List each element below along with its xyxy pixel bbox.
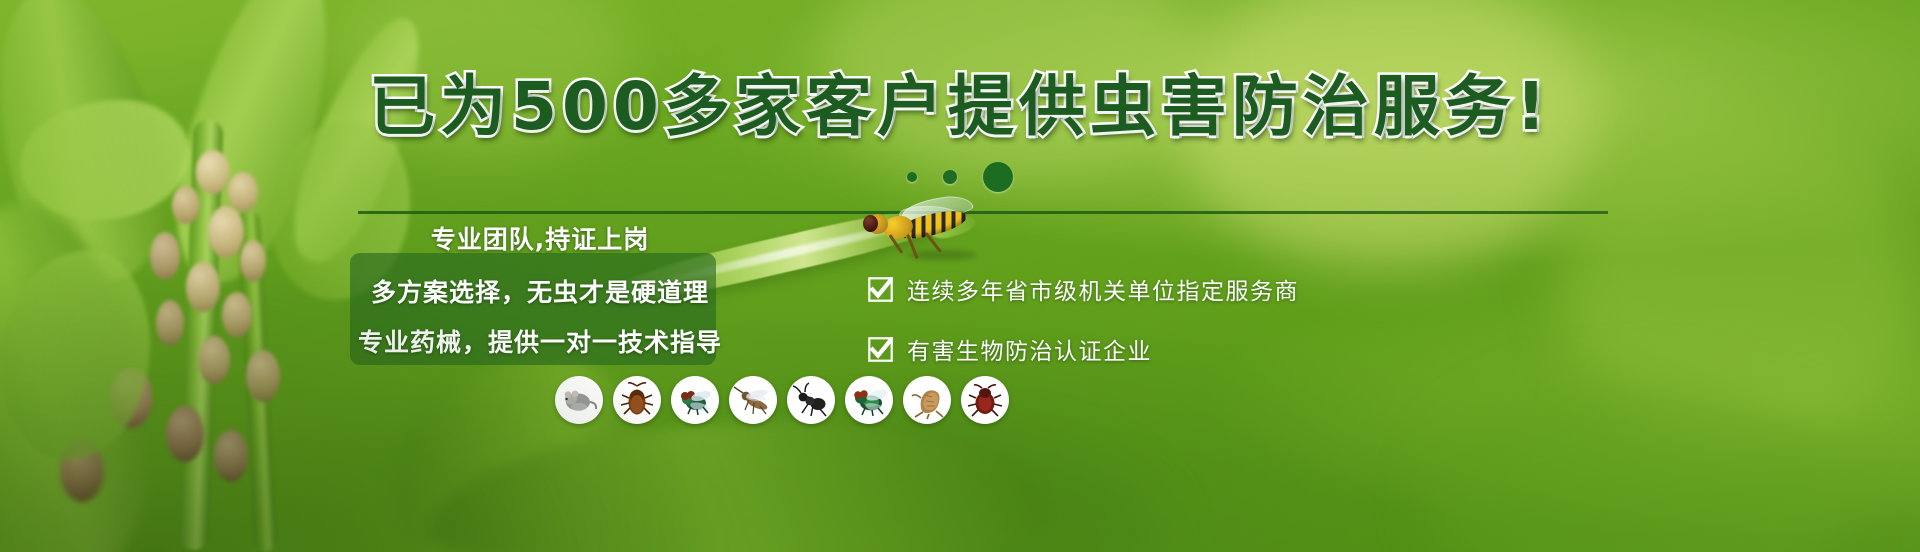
feature-line-3: 专业药械，提供一对一技术指导 <box>330 318 750 368</box>
hoverfly-eye <box>863 215 878 232</box>
flower-bud <box>214 430 248 482</box>
headline-area: 已为500多家客户提供虫害防治服务! 已为500多家客户提供虫害防治服务! <box>0 0 1920 160</box>
flower-bud <box>222 292 252 338</box>
flower-bud <box>240 240 266 282</box>
pest-control-banner: 已为500多家客户提供虫害防治服务! 已为500多家客户提供虫害防治服务! 专业… <box>0 0 1920 552</box>
rat-icon[interactable] <box>555 376 603 424</box>
flower-bud <box>246 350 280 402</box>
list-item: 有害生物防治认证企业 <box>868 332 1299 366</box>
flower-bud <box>156 300 184 346</box>
flower-bud <box>198 336 230 384</box>
dot-small-icon <box>907 172 917 182</box>
greenfly-icon[interactable] <box>845 376 893 424</box>
fly-icon[interactable] <box>671 376 719 424</box>
list-item-label: 连续多年省市级机关单位指定服务商 <box>907 272 1299 306</box>
page-title: 已为500多家客户提供虫害防治服务! <box>0 74 1920 140</box>
list-item-label: 有害生物防治认证企业 <box>907 332 1152 366</box>
flea-icon[interactable] <box>903 376 951 424</box>
bedbug-icon[interactable] <box>961 376 1009 424</box>
flower-bud <box>208 206 244 258</box>
dot-large-icon <box>983 162 1013 192</box>
cockroach-icon[interactable] <box>613 376 661 424</box>
flower-bud <box>166 406 204 462</box>
dot-medium-icon <box>943 170 957 184</box>
pest-icon-row <box>555 376 1009 424</box>
flower-bud <box>150 232 180 280</box>
list-item: 连续多年省市级机关单位指定服务商 <box>868 272 1299 306</box>
decorative-dots <box>0 162 1920 192</box>
checkbox-checked-icon <box>868 337 893 362</box>
checkbox-checked-icon <box>868 277 893 302</box>
mosquito-icon[interactable] <box>729 376 777 424</box>
hoverfly-illustration <box>845 196 975 258</box>
ant-icon[interactable] <box>787 376 835 424</box>
feature-text-group: 专业团队,持证上岗 多方案选择，无虫才是硬道理 专业药械，提供一对一技术指导 <box>330 212 750 368</box>
feature-line-1: 专业团队,持证上岗 <box>330 212 750 268</box>
flower-bud <box>186 262 220 312</box>
benefit-list: 连续多年省市级机关单位指定服务商 有害生物防治认证企业 <box>868 272 1299 366</box>
feature-line-2: 多方案选择，无虫才是硬道理 <box>330 268 750 318</box>
